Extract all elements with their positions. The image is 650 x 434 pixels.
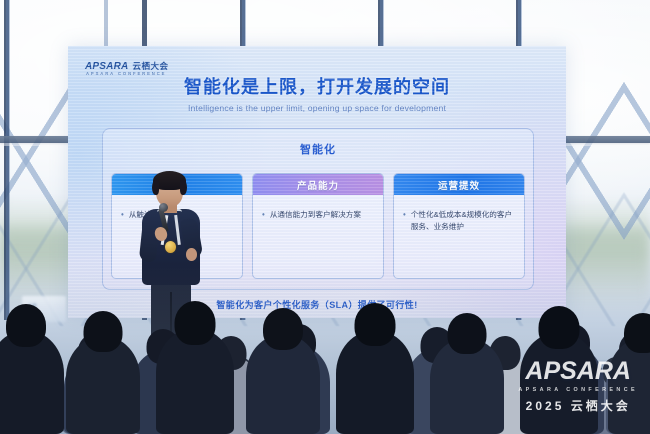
audience-member: [66, 336, 140, 434]
card-operational-efficiency-bullet-text: 个性化&低成本&规模化的客户服务、业务维护: [411, 209, 516, 233]
audience-member: [336, 330, 414, 434]
bullet-dot-icon: •: [262, 209, 265, 221]
card-product-capability-bullet-text: 从通信能力到客户解决方案: [270, 209, 361, 221]
conference-photo: 云栖 APSARA 云栖大会 APSARA CONFERENCE 智能化是上限，…: [0, 0, 650, 434]
bullet-dot-icon: •: [121, 209, 124, 221]
audience-member: [430, 338, 504, 434]
card-operational-efficiency-header: 运营提效: [394, 174, 524, 195]
card-product-capability-header: 产品能力: [253, 174, 383, 195]
audience-member: [156, 328, 234, 434]
bullet-dot-icon: •: [403, 209, 406, 233]
speaker-badge: [165, 241, 176, 253]
speaker-right-hand: [186, 248, 197, 261]
speaker-hair-left: [152, 180, 159, 195]
watermark: APSARA APSARA CONFERENCE 2025 云栖大会: [518, 359, 638, 414]
speaker-hair-right: [180, 180, 187, 195]
slide-subtitle: Intelligence is the upper limit, opening…: [68, 103, 566, 113]
microphone-head-icon: [159, 203, 168, 212]
audience-member: [0, 330, 64, 434]
slide-title: 智能化是上限，打开发展的空间: [68, 73, 566, 99]
apsara-logo-mark: APSARA: [85, 61, 128, 72]
panel-heading: 智能化: [103, 141, 533, 157]
watermark-year: 2025 云栖大会: [518, 397, 638, 414]
audience-member: [246, 334, 320, 434]
watermark-apsara: APSARA: [518, 359, 638, 384]
list-item: • 个性化&低成本&规模化的客户服务、业务维护: [403, 209, 516, 233]
list-item: • 从通信能力到客户解决方案: [262, 209, 375, 221]
watermark-conference: APSARA CONFERENCE: [518, 387, 638, 393]
